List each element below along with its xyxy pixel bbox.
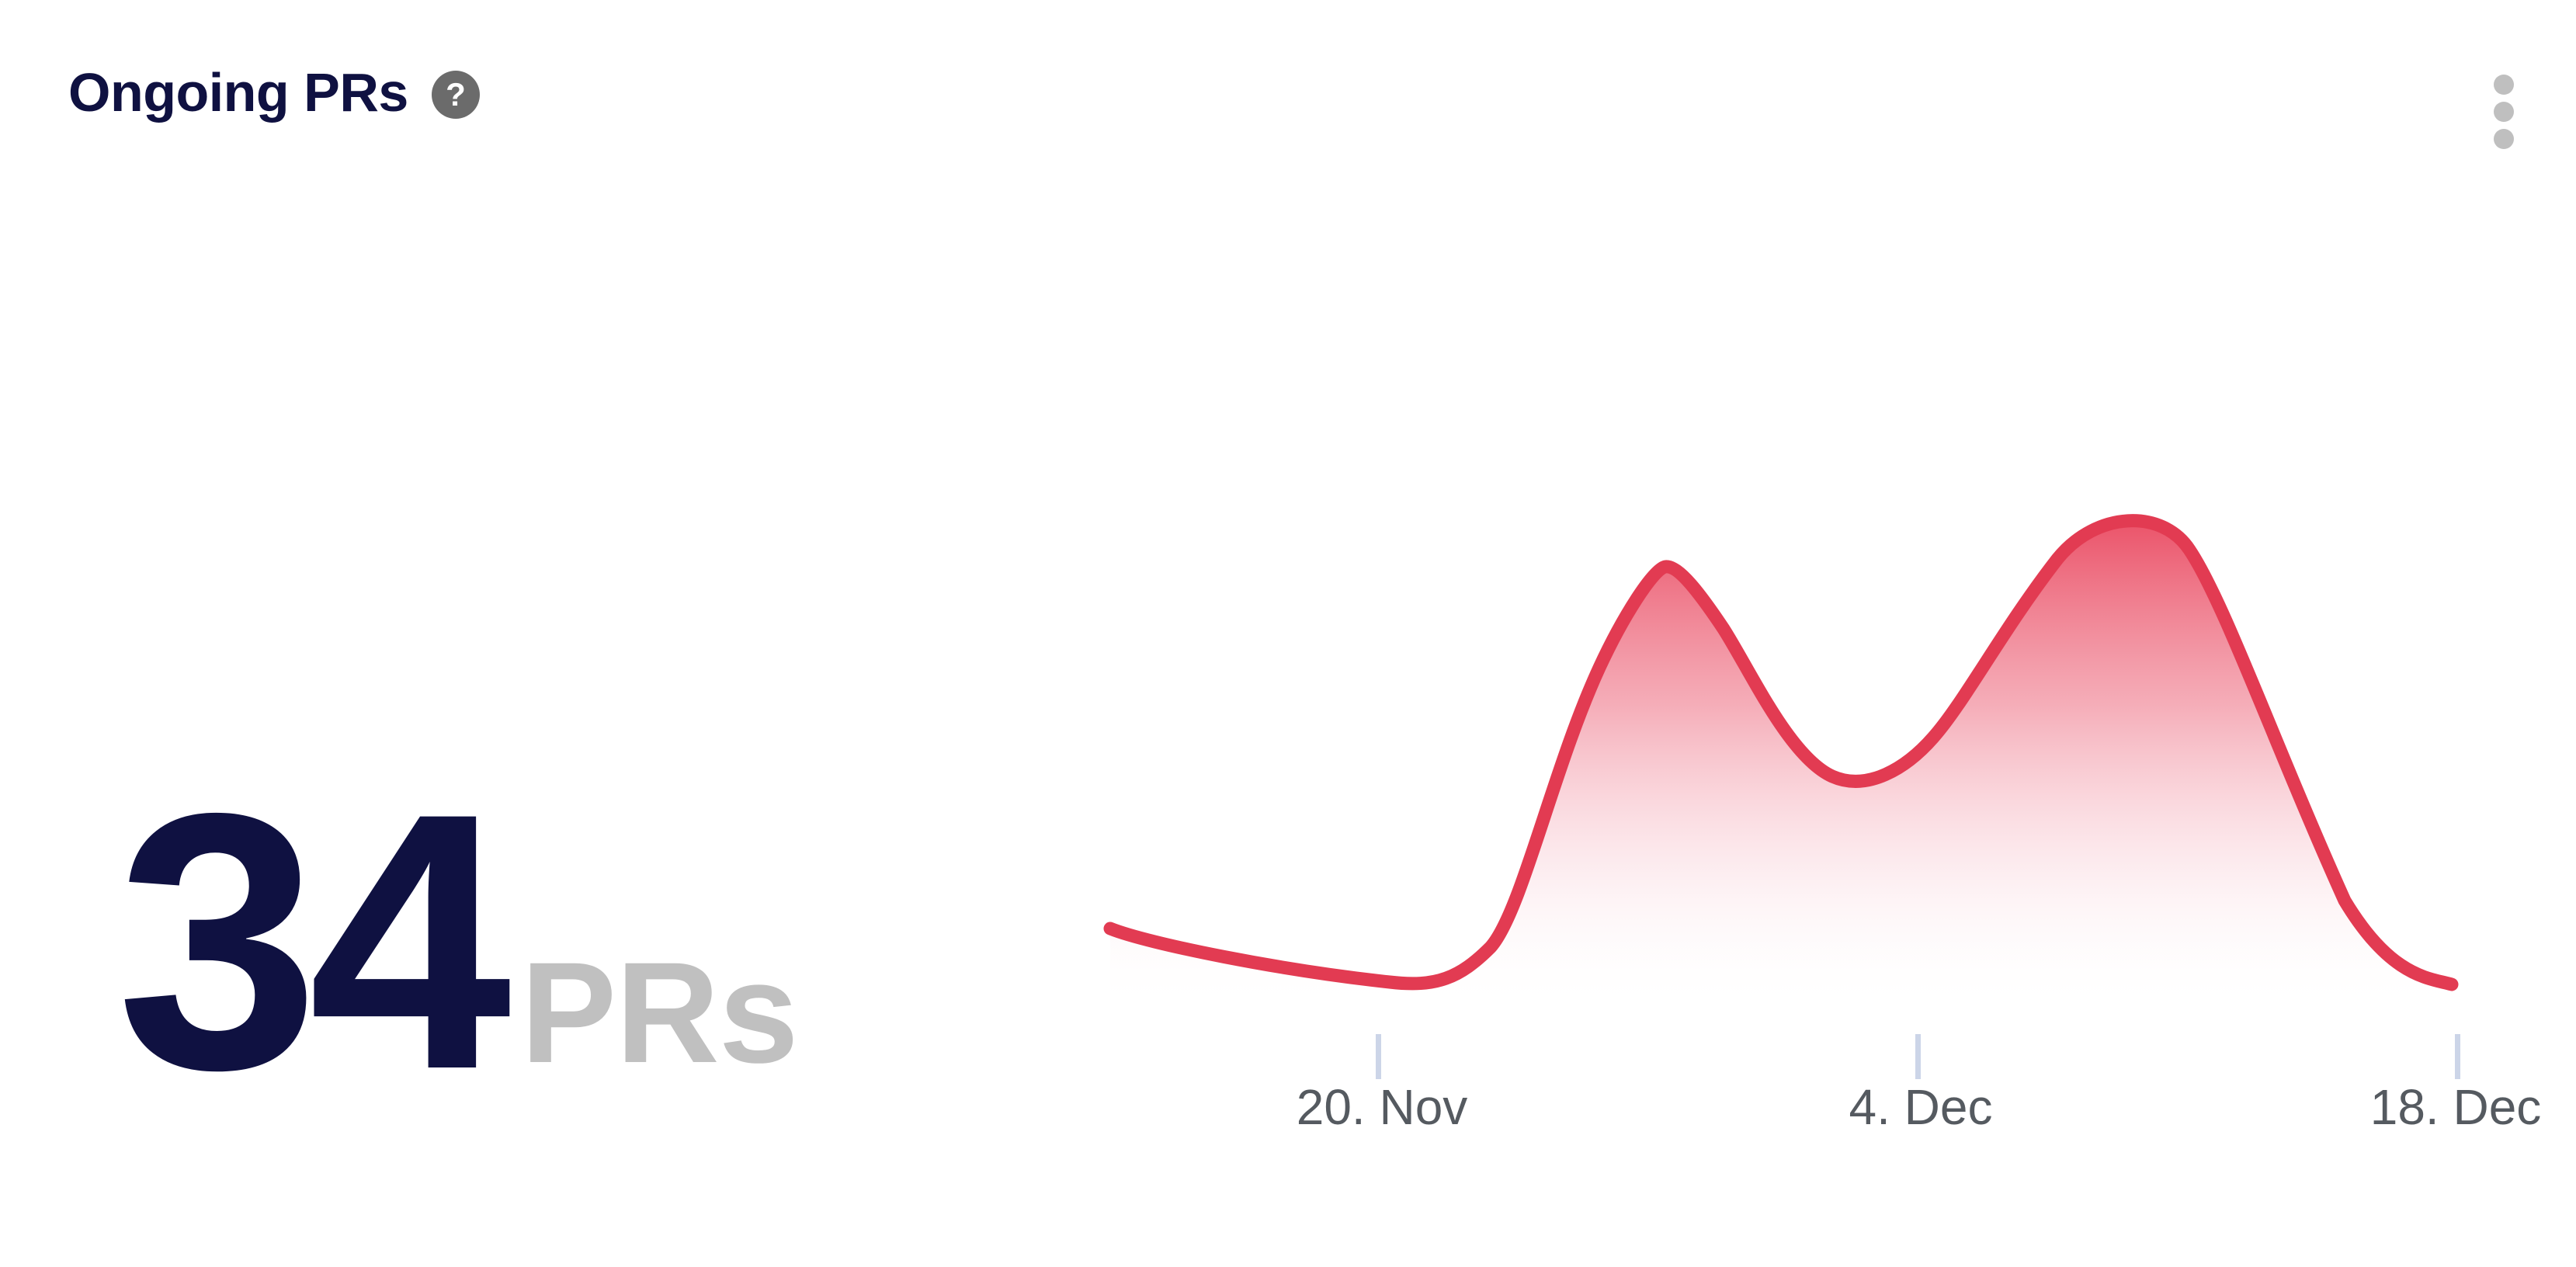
area-chart-svg bbox=[1087, 435, 2492, 1040]
vertical-three-dot-menu-icon[interactable] bbox=[2491, 75, 2517, 149]
menu-dot-1 bbox=[2494, 75, 2514, 95]
x-axis-tick-1 bbox=[1915, 1034, 1921, 1079]
question-mark-circle-icon[interactable]: ? bbox=[432, 71, 480, 119]
menu-dot-2 bbox=[2494, 102, 2514, 122]
x-axis-ticks bbox=[0, 1034, 2576, 1081]
card-header: Ongoing PRs ? bbox=[0, 0, 2576, 163]
title-row: Ongoing PRs ? bbox=[68, 65, 480, 120]
svg-text:?: ? bbox=[446, 76, 466, 113]
x-axis-labels: 20. Nov 4. Dec 18. Dec bbox=[0, 1079, 2576, 1149]
x-axis-label-2: 18. Dec bbox=[2370, 1079, 2542, 1137]
x-axis-tick-0 bbox=[1376, 1034, 1381, 1079]
menu-dot-3 bbox=[2494, 129, 2514, 149]
page-title: Ongoing PRs bbox=[68, 65, 408, 120]
ongoing-prs-metric-card: Ongoing PRs ? 34 PRs bbox=[0, 0, 2576, 1267]
x-axis-label-1: 4. Dec bbox=[1849, 1079, 1993, 1137]
x-axis-tick-2 bbox=[2455, 1034, 2460, 1079]
area-chart-fill bbox=[1110, 521, 2452, 1006]
area-chart[interactable] bbox=[1087, 435, 2492, 1040]
x-axis-label-0: 20. Nov bbox=[1297, 1079, 1468, 1137]
